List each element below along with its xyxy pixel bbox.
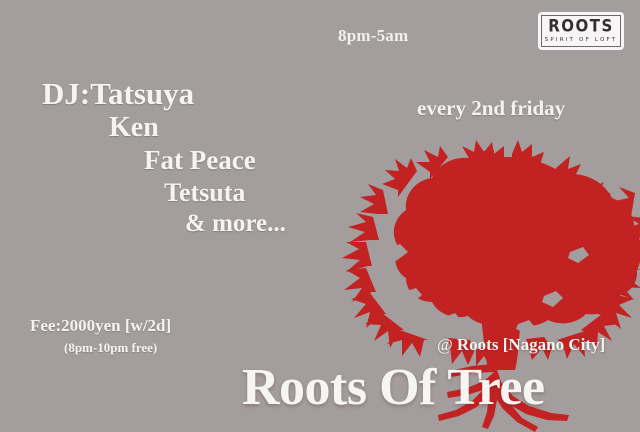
dj-lineup-item: DJ:Tatsuya	[42, 78, 342, 110]
dj-lineup-item: Tetsuta	[164, 180, 342, 207]
dj-lineup-item: Ken	[109, 114, 342, 143]
roots-logo-tagline: SPIRIT OF LOFT	[545, 38, 618, 44]
fee-amount: Fee:2000yen [w/2d]	[30, 316, 171, 336]
event-time: 8pm-5am	[338, 26, 408, 46]
fee-note: (8pm-10pm free)	[64, 340, 171, 356]
venue-label: @ Roots [Nagano City]	[437, 335, 605, 355]
roots-logo-frame: ROOTS SPIRIT OF LOFT	[541, 15, 621, 47]
event-frequency: every 2nd friday	[417, 96, 565, 121]
flyer-canvas: 8pm-5am ROOTS SPIRIT OF LOFT DJ:Tatsuya …	[0, 0, 640, 432]
roots-logo-wordmark: ROOTS	[548, 18, 614, 35]
venue-name: Roots [Nagano City]	[457, 335, 605, 354]
roots-logo: ROOTS SPIRIT OF LOFT	[538, 12, 624, 50]
fee-block: Fee:2000yen [w/2d] (8pm-10pm free)	[30, 316, 171, 356]
at-symbol: @	[437, 335, 453, 354]
dj-lineup-item: Fat Peace	[144, 147, 342, 175]
page-title: Roots Of Tree	[242, 358, 545, 417]
dj-lineup-item: & more...	[185, 211, 342, 237]
dj-lineup: DJ:Tatsuya Ken Fat Peace Tetsuta & more.…	[42, 78, 342, 237]
